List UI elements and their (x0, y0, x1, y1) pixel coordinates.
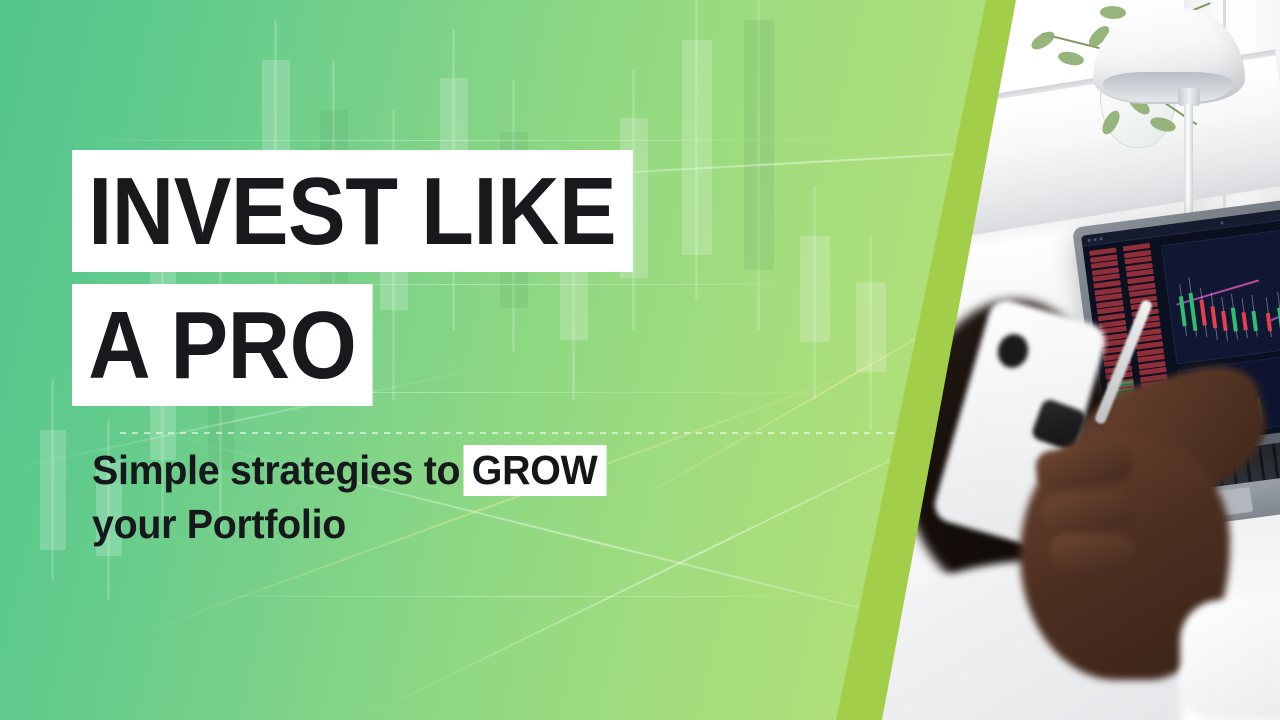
grid-line (140, 596, 920, 597)
subtitle-prefix: Simple strategies to (92, 447, 460, 493)
headline-line-1: INVEST LIKE (72, 150, 632, 272)
subtitle-line-2: your Portfolio (92, 497, 606, 551)
shirt-cuff (1180, 600, 1280, 720)
candle-body (800, 236, 830, 342)
price-chart (1161, 219, 1280, 364)
person-finger (1041, 489, 1135, 533)
headline-line-2: A PRO (72, 284, 373, 406)
grid-line (0, 140, 900, 141)
desk-lamp-inner (1103, 72, 1233, 102)
candle-body (40, 430, 66, 550)
subtitle-line-1: Simple strategies toGROW (92, 443, 606, 497)
headline: INVEST LIKE A PRO (72, 150, 695, 406)
subtitle: Simple strategies toGROW your Portfolio (92, 443, 606, 551)
poster-canvas: INVEST LIKE A PRO Simple strategies toGR… (0, 0, 1280, 720)
candle-body (744, 20, 774, 270)
grow-highlight: GROW (463, 445, 606, 496)
dashed-trend-line (120, 432, 910, 434)
person-finger (1049, 533, 1134, 572)
